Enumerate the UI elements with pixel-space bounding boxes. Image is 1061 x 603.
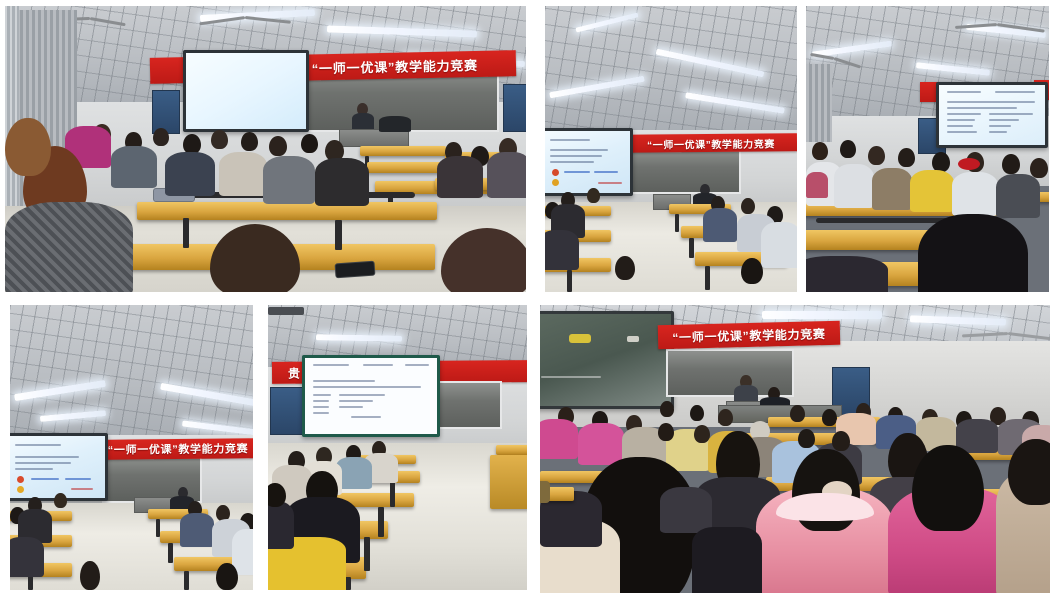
person-head-foreground <box>912 445 984 531</box>
desk-leg <box>378 507 384 537</box>
person-body <box>910 170 954 212</box>
slide-bullet <box>552 179 559 186</box>
person-body <box>996 174 1040 218</box>
slide-text-line <box>947 113 981 115</box>
person-head <box>54 493 67 508</box>
person-head <box>840 140 856 158</box>
slide-text-line <box>313 364 349 366</box>
classroom-door <box>270 387 306 435</box>
slide-text-line <box>989 113 1033 115</box>
scene-content: “一师一优课”教学能力竞赛 <box>540 305 1050 593</box>
slide-text-line <box>339 400 373 402</box>
slide-highlight <box>569 334 591 343</box>
person-head <box>822 409 837 426</box>
slide-text-line <box>31 478 59 480</box>
slide-text-line <box>598 182 622 184</box>
person-head <box>211 130 228 149</box>
person-body <box>219 152 267 196</box>
person-head <box>868 146 885 165</box>
student-desk <box>137 202 437 220</box>
person-head <box>932 152 950 172</box>
slide-text-line <box>541 376 601 378</box>
person-body <box>10 537 44 577</box>
desk-leg <box>184 571 189 590</box>
person-body <box>437 156 483 198</box>
projection-screen <box>540 311 674 409</box>
desk-leg <box>675 214 679 232</box>
person-head <box>1030 158 1048 178</box>
person-head <box>301 134 318 153</box>
person-head <box>790 405 805 422</box>
ceiling-fan-icon <box>215 8 275 24</box>
desk-leg <box>183 218 189 248</box>
photo-panel-classroom-slide-view[interactable]: “一师一优课”教学能力竞赛 <box>545 6 797 292</box>
person-head <box>812 142 828 160</box>
projection-screen <box>936 82 1048 148</box>
person-head <box>587 188 600 203</box>
person-body <box>660 487 712 533</box>
desk-leg <box>390 481 395 507</box>
desk-leg <box>335 220 342 250</box>
slide-text-line <box>351 416 381 418</box>
slide-text-line <box>947 91 981 93</box>
person-body <box>165 152 215 196</box>
bottle <box>540 481 550 503</box>
ceiling-fan-icon <box>812 50 856 64</box>
slide-bullet <box>17 476 24 483</box>
person-body <box>703 208 737 242</box>
projection-screen <box>302 355 440 437</box>
banner-text: “一师一优课”教学能力竞赛 <box>672 325 826 346</box>
person-body <box>180 513 214 547</box>
person-body-foreground <box>5 202 133 292</box>
person-head <box>718 409 733 426</box>
scene-content: “一师一优课”教学能力竞赛 <box>545 6 797 292</box>
slide-text-line <box>947 131 977 133</box>
person-body <box>540 419 578 459</box>
person-head <box>832 431 850 451</box>
person-body <box>761 222 797 268</box>
slide-text-line <box>550 161 594 163</box>
slide-text-line <box>550 155 602 157</box>
slide-text-line <box>65 478 91 480</box>
person-body <box>268 501 294 549</box>
slide-text-line <box>313 394 331 396</box>
slide-text-line <box>550 139 590 141</box>
person-head <box>216 563 238 590</box>
photo-panel-classroom-banner-blackboard[interactable]: “一师一优课”教学能力竞赛 <box>10 305 253 590</box>
person-body <box>111 146 157 188</box>
desk-leg <box>156 519 160 537</box>
competition-banner: “一师一优课”教学能力竞赛 <box>658 321 841 349</box>
slide-text-line <box>313 380 375 382</box>
light-tube <box>762 311 882 319</box>
slide-highlight <box>627 336 639 342</box>
slide-text-line <box>15 444 61 446</box>
person-head <box>615 256 635 280</box>
projection-screen <box>183 50 309 132</box>
hair-bow <box>958 158 980 170</box>
classroom-door <box>152 90 180 134</box>
person-head <box>694 425 710 443</box>
photo-panel-lecture-hall-wide-front-view[interactable]: 贵 “一师一优课”教学能力竞赛 <box>5 6 526 292</box>
smartphone <box>335 261 376 279</box>
projection-screen <box>545 128 633 196</box>
slide-text-line <box>15 462 71 464</box>
student-desk <box>360 146 446 156</box>
scene-content: 贵 “一师一优课”教学能力竞赛 <box>5 6 526 292</box>
slide-text-line <box>550 149 608 151</box>
photo-panel-students-watching-slide[interactable] <box>806 6 1049 292</box>
ceiling-fan-icon <box>970 323 1046 341</box>
photo-collage: 贵 “一师一优课”教学能力竞赛 <box>0 0 1061 603</box>
slide-text-line <box>313 400 329 402</box>
banner-text: “一师一优课”教学能力竞赛 <box>108 440 249 457</box>
person-head <box>658 423 674 441</box>
person-body <box>692 527 762 593</box>
person-body-foreground <box>918 214 1028 292</box>
photo-panel-students-front-rows[interactable]: 贵 “一师一优 <box>268 305 527 590</box>
slide-text-line <box>313 412 329 414</box>
person-head <box>660 401 674 417</box>
slide-text-line <box>594 171 618 173</box>
slide-bullet <box>552 169 559 176</box>
scene-content: 贵 “一师一优 <box>268 305 527 590</box>
person-head <box>898 148 915 167</box>
competition-banner: “一师一优课”教学能力竞赛 <box>625 133 797 153</box>
person-head <box>269 136 287 156</box>
desk-leg <box>705 266 710 290</box>
slide-text-line <box>405 364 429 366</box>
desk-leg <box>28 575 33 590</box>
person-head <box>690 405 704 421</box>
person-head <box>153 128 169 146</box>
window-curtain <box>806 64 832 142</box>
person-head <box>183 134 201 154</box>
light-tube <box>268 307 304 315</box>
slide-text-line <box>947 107 1017 109</box>
slide-text-line <box>339 406 363 408</box>
slide-text-line <box>313 406 329 408</box>
person-body <box>578 423 624 465</box>
person-body <box>872 168 912 210</box>
slide-text-line <box>363 364 393 366</box>
banner-text: “一师一优课”教学能力竞赛 <box>647 135 775 151</box>
person-body <box>952 172 998 216</box>
slide-text-line <box>15 456 79 458</box>
photo-panel-packed-lecture-hall[interactable]: “一师一优课”教学能力竞赛 <box>540 305 1050 593</box>
person-body <box>263 156 315 204</box>
person-head <box>1002 154 1020 174</box>
person-body <box>834 164 874 208</box>
slide-text-line <box>947 119 975 121</box>
classroom-door <box>503 84 526 132</box>
person-body <box>545 230 579 270</box>
ceiling-grid <box>10 305 253 443</box>
slide-text-line <box>313 386 421 388</box>
student-desk <box>496 445 527 455</box>
slide-text-line <box>947 101 1035 103</box>
person-head <box>798 429 815 448</box>
slide-text-line <box>15 468 53 470</box>
teacher-desk <box>490 455 527 509</box>
person-head <box>741 198 755 214</box>
ceiling <box>10 305 253 443</box>
scene-content <box>806 6 1049 292</box>
desk-leg <box>689 238 694 258</box>
person-body <box>806 172 828 198</box>
person-head <box>268 483 286 507</box>
slide-text-line <box>989 131 1007 133</box>
person-head-foreground <box>5 118 51 176</box>
blackboard <box>627 148 741 194</box>
desk-leg <box>567 270 572 292</box>
person-body-foreground <box>806 256 888 292</box>
desk-leg <box>168 543 173 563</box>
slide-bullet <box>17 486 24 493</box>
scene-content: “一师一优课”教学能力竞赛 <box>10 305 253 590</box>
slide-text-line <box>989 125 1011 127</box>
slide-text-line <box>339 394 385 396</box>
projection-screen <box>10 433 108 501</box>
slide-text-line <box>947 125 973 127</box>
competition-banner: “一师一优课”教学能力竞赛 <box>100 438 253 460</box>
person-body <box>315 158 369 206</box>
person-head <box>741 258 763 284</box>
desk-leg <box>364 537 370 571</box>
person-head <box>80 561 100 590</box>
slide-text-line <box>995 91 1035 93</box>
person-body <box>487 152 526 198</box>
person-head <box>241 132 258 151</box>
slide-text-line <box>71 488 93 490</box>
slide-text-line <box>564 171 590 173</box>
person-body <box>379 116 411 132</box>
slide-text-line <box>989 119 1019 121</box>
ceiling-fan-icon <box>962 14 1032 32</box>
